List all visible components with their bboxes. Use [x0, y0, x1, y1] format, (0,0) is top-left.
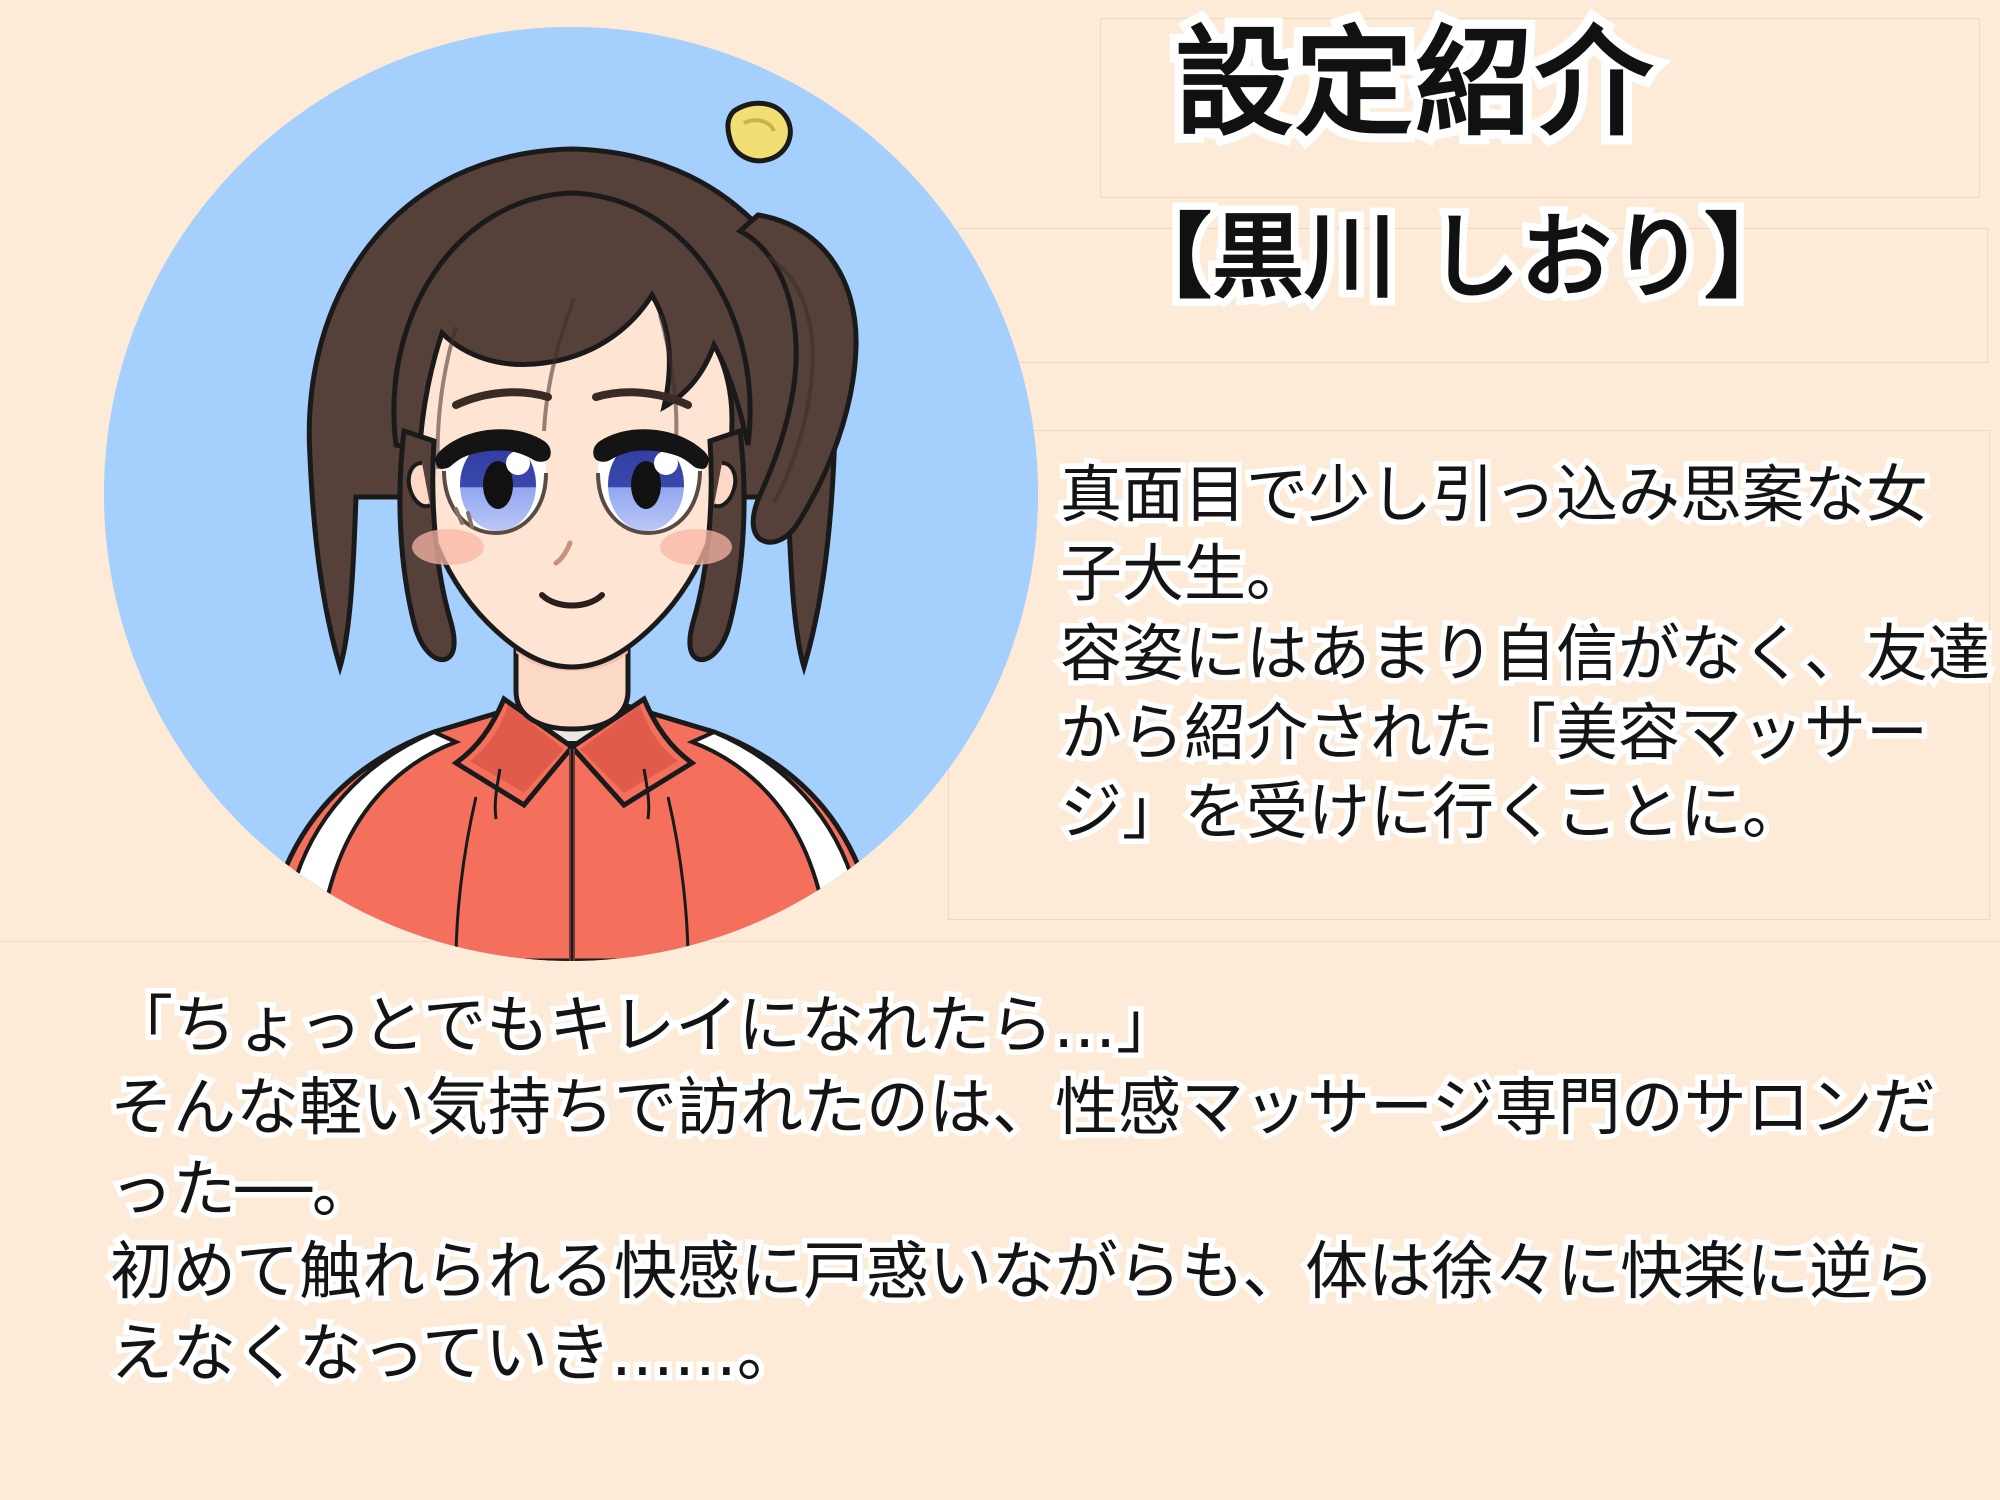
character-name: 【黒川 しおり】 — [1120, 210, 1796, 307]
poster-canvas: 設定紹介 【黒川 しおり】 真面目で少し引っ込み思案な女 子大生。 容姿にはあま… — [0, 0, 2000, 1500]
story-line: 初めて触れられる快感に戸惑いながらも、体は徐々に快楽に逆ら — [110, 1231, 1970, 1313]
story-line: 「ちょっとでもキレイになれたら…」 — [110, 985, 1970, 1067]
character-name-block: 【黒川 しおり】 — [1120, 210, 1796, 307]
page-title: 設定紹介 — [1175, 22, 1655, 146]
section-title-block: 設定紹介 — [1175, 22, 1655, 146]
portrait-circle-background — [104, 27, 1038, 961]
description-line: 容姿にはあまり自信がなく、友達 — [1060, 614, 2000, 693]
character-description: 真面目で少し引っ込み思案な女 子大生。 容姿にはあまり自信がなく、友達 から紹介… — [1060, 455, 2000, 852]
description-line: 子大生。 — [1060, 534, 2000, 613]
hair-tie — [728, 103, 790, 160]
story-line: った──。 — [110, 1149, 1970, 1231]
story-line: えなくなっていき……。 — [110, 1313, 1970, 1395]
character-illustration — [104, 27, 1038, 961]
story-line: そんな軽い気持ちで訪れたのは、性感マッサージ専門のサロンだ — [110, 1067, 1970, 1149]
description-line: ジ」を受けに行くことに。 — [1060, 772, 2000, 851]
description-line: から紹介された「美容マッサー — [1060, 693, 2000, 772]
story-text: 「ちょっとでもキレイになれたら…」 そんな軽い気持ちで訪れたのは、性感マッサージ… — [110, 985, 1970, 1394]
character-portrait — [104, 27, 1038, 961]
description-line: 真面目で少し引っ込み思案な女 — [1060, 455, 2000, 534]
